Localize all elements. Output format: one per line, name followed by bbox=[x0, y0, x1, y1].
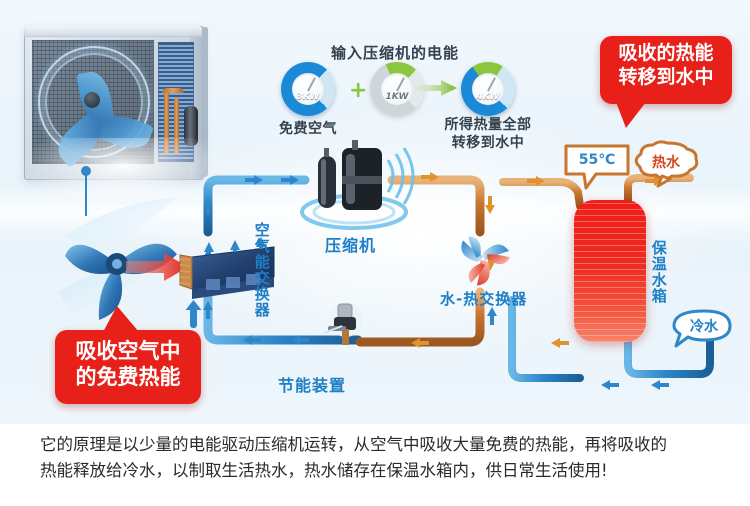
absorb-air-callout: 吸收空气中 的免费热能 bbox=[55, 330, 201, 404]
infographic-root: 输入压缩机的电能 3KW 免费空气 + 1KW 4KW 所得热量全部 转移到水中 bbox=[0, 0, 750, 506]
label-air-energy-exchanger: 空气能交换器 bbox=[253, 222, 269, 318]
heat-transfer-callout: 吸收的热能 转移到水中 bbox=[600, 36, 732, 104]
callout-tail bbox=[103, 306, 139, 332]
heat-transfer-callout-line2: 转移到水中 bbox=[600, 66, 732, 90]
temperature-value: 55℃ bbox=[562, 152, 632, 168]
energy-saving-device bbox=[318, 300, 374, 352]
cold-water-bubble: 冷水 bbox=[672, 308, 736, 354]
coil-outlet-arrow bbox=[178, 300, 218, 330]
insulated-water-tank bbox=[574, 200, 646, 342]
label-energy-saving-device: 节能装置 bbox=[278, 372, 346, 396]
callout-tail bbox=[616, 102, 646, 128]
label-compressor: 压缩机 bbox=[325, 232, 376, 256]
coil-inlet-arrows bbox=[196, 228, 286, 254]
description-line-2: 热能释放给冷水，以制取生活热水，热水储存在保温水箱内，供日常生活使用! bbox=[40, 458, 712, 484]
description-paragraph: 它的原理是以少量的电能驱动压缩机运转，从空气中吸收大量免费的热能，再将吸收的 热… bbox=[40, 432, 712, 483]
heat-transfer-callout-line1: 吸收的热能 bbox=[600, 42, 732, 66]
temperature-bubble: 55℃ bbox=[562, 142, 634, 194]
hot-water-bubble: 热水 bbox=[634, 140, 700, 192]
label-water-heat-exchanger: 水-热交换器 bbox=[440, 288, 527, 309]
cold-water-label: 冷水 bbox=[680, 316, 728, 336]
absorb-air-callout-line1: 吸收空气中 bbox=[55, 338, 201, 364]
hot-water-label: 热水 bbox=[634, 152, 698, 172]
water-heat-exchanger-swirl bbox=[452, 228, 514, 290]
description-line-1: 它的原理是以少量的电能驱动压缩机运转，从空气中吸收大量免费的热能，再将吸收的 bbox=[40, 432, 712, 458]
absorb-air-callout-line2: 的免费热能 bbox=[55, 364, 201, 390]
compressor-unit bbox=[298, 138, 416, 234]
label-insulated-tank: 保温水箱 bbox=[650, 240, 666, 304]
